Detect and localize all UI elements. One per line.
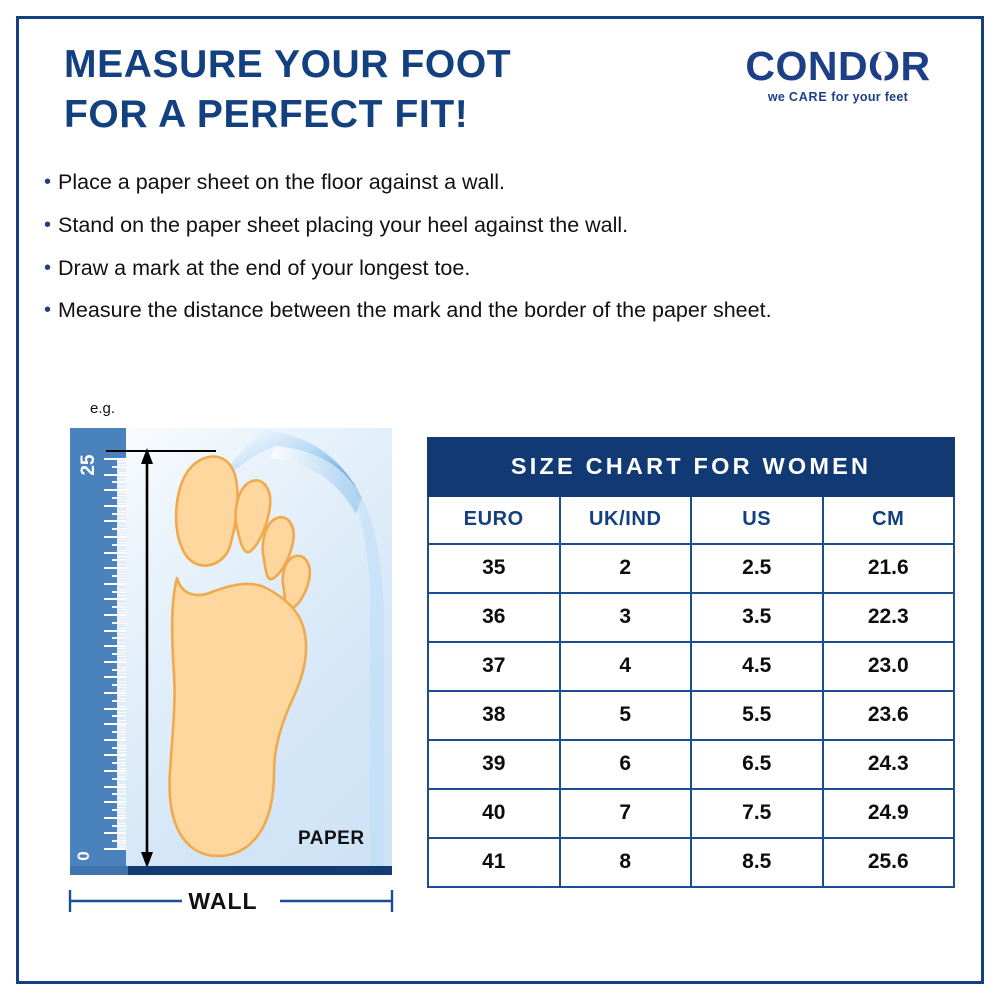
instruction-list: • Place a paper sheet on the floor again… xyxy=(44,170,944,341)
column-header-euro: EURO xyxy=(428,496,560,544)
tagline-pre: we xyxy=(768,90,789,104)
cell-ukind: 7 xyxy=(560,789,692,838)
cell-us: 7.5 xyxy=(691,789,823,838)
cell-cm: 22.3 xyxy=(823,593,955,642)
list-item: • Measure the distance between the mark … xyxy=(44,298,944,324)
column-header-ukind: UK/IND xyxy=(560,496,692,544)
measurement-tick-line xyxy=(106,450,216,452)
table-row: 35 2 2.5 21.6 xyxy=(428,544,954,593)
table-row: 41 8 8.5 25.6 xyxy=(428,838,954,887)
brand-logo-text-after: R xyxy=(901,43,931,89)
bullet-dot-icon: • xyxy=(44,298,51,323)
page-title-line-2: FOR A PERFECT FIT! xyxy=(64,90,684,140)
table-row: 36 3 3.5 22.3 xyxy=(428,593,954,642)
foot-measurement-diagram: e.g. xyxy=(60,400,405,910)
cell-us: 4.5 xyxy=(691,642,823,691)
cell-euro: 40 xyxy=(428,789,560,838)
list-item: • Draw a mark at the end of your longest… xyxy=(44,256,944,282)
column-header-us: US xyxy=(691,496,823,544)
ruler: 25 0 xyxy=(70,428,126,872)
cell-cm: 25.6 xyxy=(823,838,955,887)
foot-glyph-icon xyxy=(872,50,894,84)
table-row: 40 7 7.5 24.9 xyxy=(428,789,954,838)
cell-us: 8.5 xyxy=(691,838,823,887)
column-header-cm: CM xyxy=(823,496,955,544)
brand-logo-wordmark: CONDOR xyxy=(722,44,954,88)
cell-euro: 37 xyxy=(428,642,560,691)
wall-bar-ruler-segment xyxy=(70,866,128,875)
cell-ukind: 3 xyxy=(560,593,692,642)
list-item-text: Measure the distance between the mark an… xyxy=(58,298,772,324)
cell-euro: 39 xyxy=(428,740,560,789)
list-item: • Stand on the paper sheet placing your … xyxy=(44,213,944,239)
page-title-line-1: MEASURE YOUR FOOT xyxy=(64,40,684,90)
size-chart-title: SIZE CHART FOR WOMEN xyxy=(428,438,954,496)
cell-us: 3.5 xyxy=(691,593,823,642)
wall-label: WALL xyxy=(60,884,386,918)
cell-ukind: 4 xyxy=(560,642,692,691)
table-row: 38 5 5.5 23.6 xyxy=(428,691,954,740)
cell-us: 6.5 xyxy=(691,740,823,789)
cell-cm: 21.6 xyxy=(823,544,955,593)
example-label: e.g. xyxy=(90,400,115,417)
cell-us: 5.5 xyxy=(691,691,823,740)
bullet-dot-icon: • xyxy=(44,256,51,281)
size-chart-body: 35 2 2.5 21.6 36 3 3.5 22.3 37 4 4.5 23.… xyxy=(428,544,954,887)
size-chart: SIZE CHART FOR WOMEN EURO UK/IND US CM 3… xyxy=(427,437,955,888)
list-item-text: Draw a mark at the end of your longest t… xyxy=(58,256,470,282)
cell-ukind: 5 xyxy=(560,691,692,740)
brand-logo-text-before: COND xyxy=(745,43,868,89)
brand-logo: CONDOR we CARE for your feet xyxy=(722,44,954,110)
size-chart-title-row: SIZE CHART FOR WOMEN xyxy=(428,438,954,496)
list-item-text: Place a paper sheet on the floor against… xyxy=(58,170,505,196)
list-item: • Place a paper sheet on the floor again… xyxy=(44,170,944,196)
measurement-arrow xyxy=(140,448,154,868)
tagline-care: CARE xyxy=(789,90,828,104)
list-item-text: Stand on the paper sheet placing your he… xyxy=(58,213,628,239)
cell-euro: 38 xyxy=(428,691,560,740)
foot-illustration xyxy=(146,446,316,864)
table-row: 39 6 6.5 24.3 xyxy=(428,740,954,789)
cell-ukind: 8 xyxy=(560,838,692,887)
cell-cm: 24.3 xyxy=(823,740,955,789)
bullet-dot-icon: • xyxy=(44,170,51,195)
size-chart-header-row: EURO UK/IND US CM xyxy=(428,496,954,544)
size-chart-table: SIZE CHART FOR WOMEN EURO UK/IND US CM 3… xyxy=(427,437,955,888)
cell-cm: 23.0 xyxy=(823,642,955,691)
brand-logo-tagline: we CARE for your feet xyxy=(722,90,954,104)
paper-label: PAPER xyxy=(298,828,365,850)
infographic-page: MEASURE YOUR FOOT FOR A PERFECT FIT! CON… xyxy=(0,0,1000,1000)
page-title: MEASURE YOUR FOOT FOR A PERFECT FIT! xyxy=(64,40,684,140)
cell-us: 2.5 xyxy=(691,544,823,593)
cell-ukind: 2 xyxy=(560,544,692,593)
tagline-post: for your feet xyxy=(828,90,909,104)
cell-euro: 41 xyxy=(428,838,560,887)
table-row: 37 4 4.5 23.0 xyxy=(428,642,954,691)
ruler-label-25: 25 xyxy=(78,442,100,488)
cell-ukind: 6 xyxy=(560,740,692,789)
cell-euro: 36 xyxy=(428,593,560,642)
cell-cm: 23.6 xyxy=(823,691,955,740)
bullet-dot-icon: • xyxy=(44,213,51,238)
cell-euro: 35 xyxy=(428,544,560,593)
ruler-tick xyxy=(104,458,126,460)
cell-cm: 24.9 xyxy=(823,789,955,838)
